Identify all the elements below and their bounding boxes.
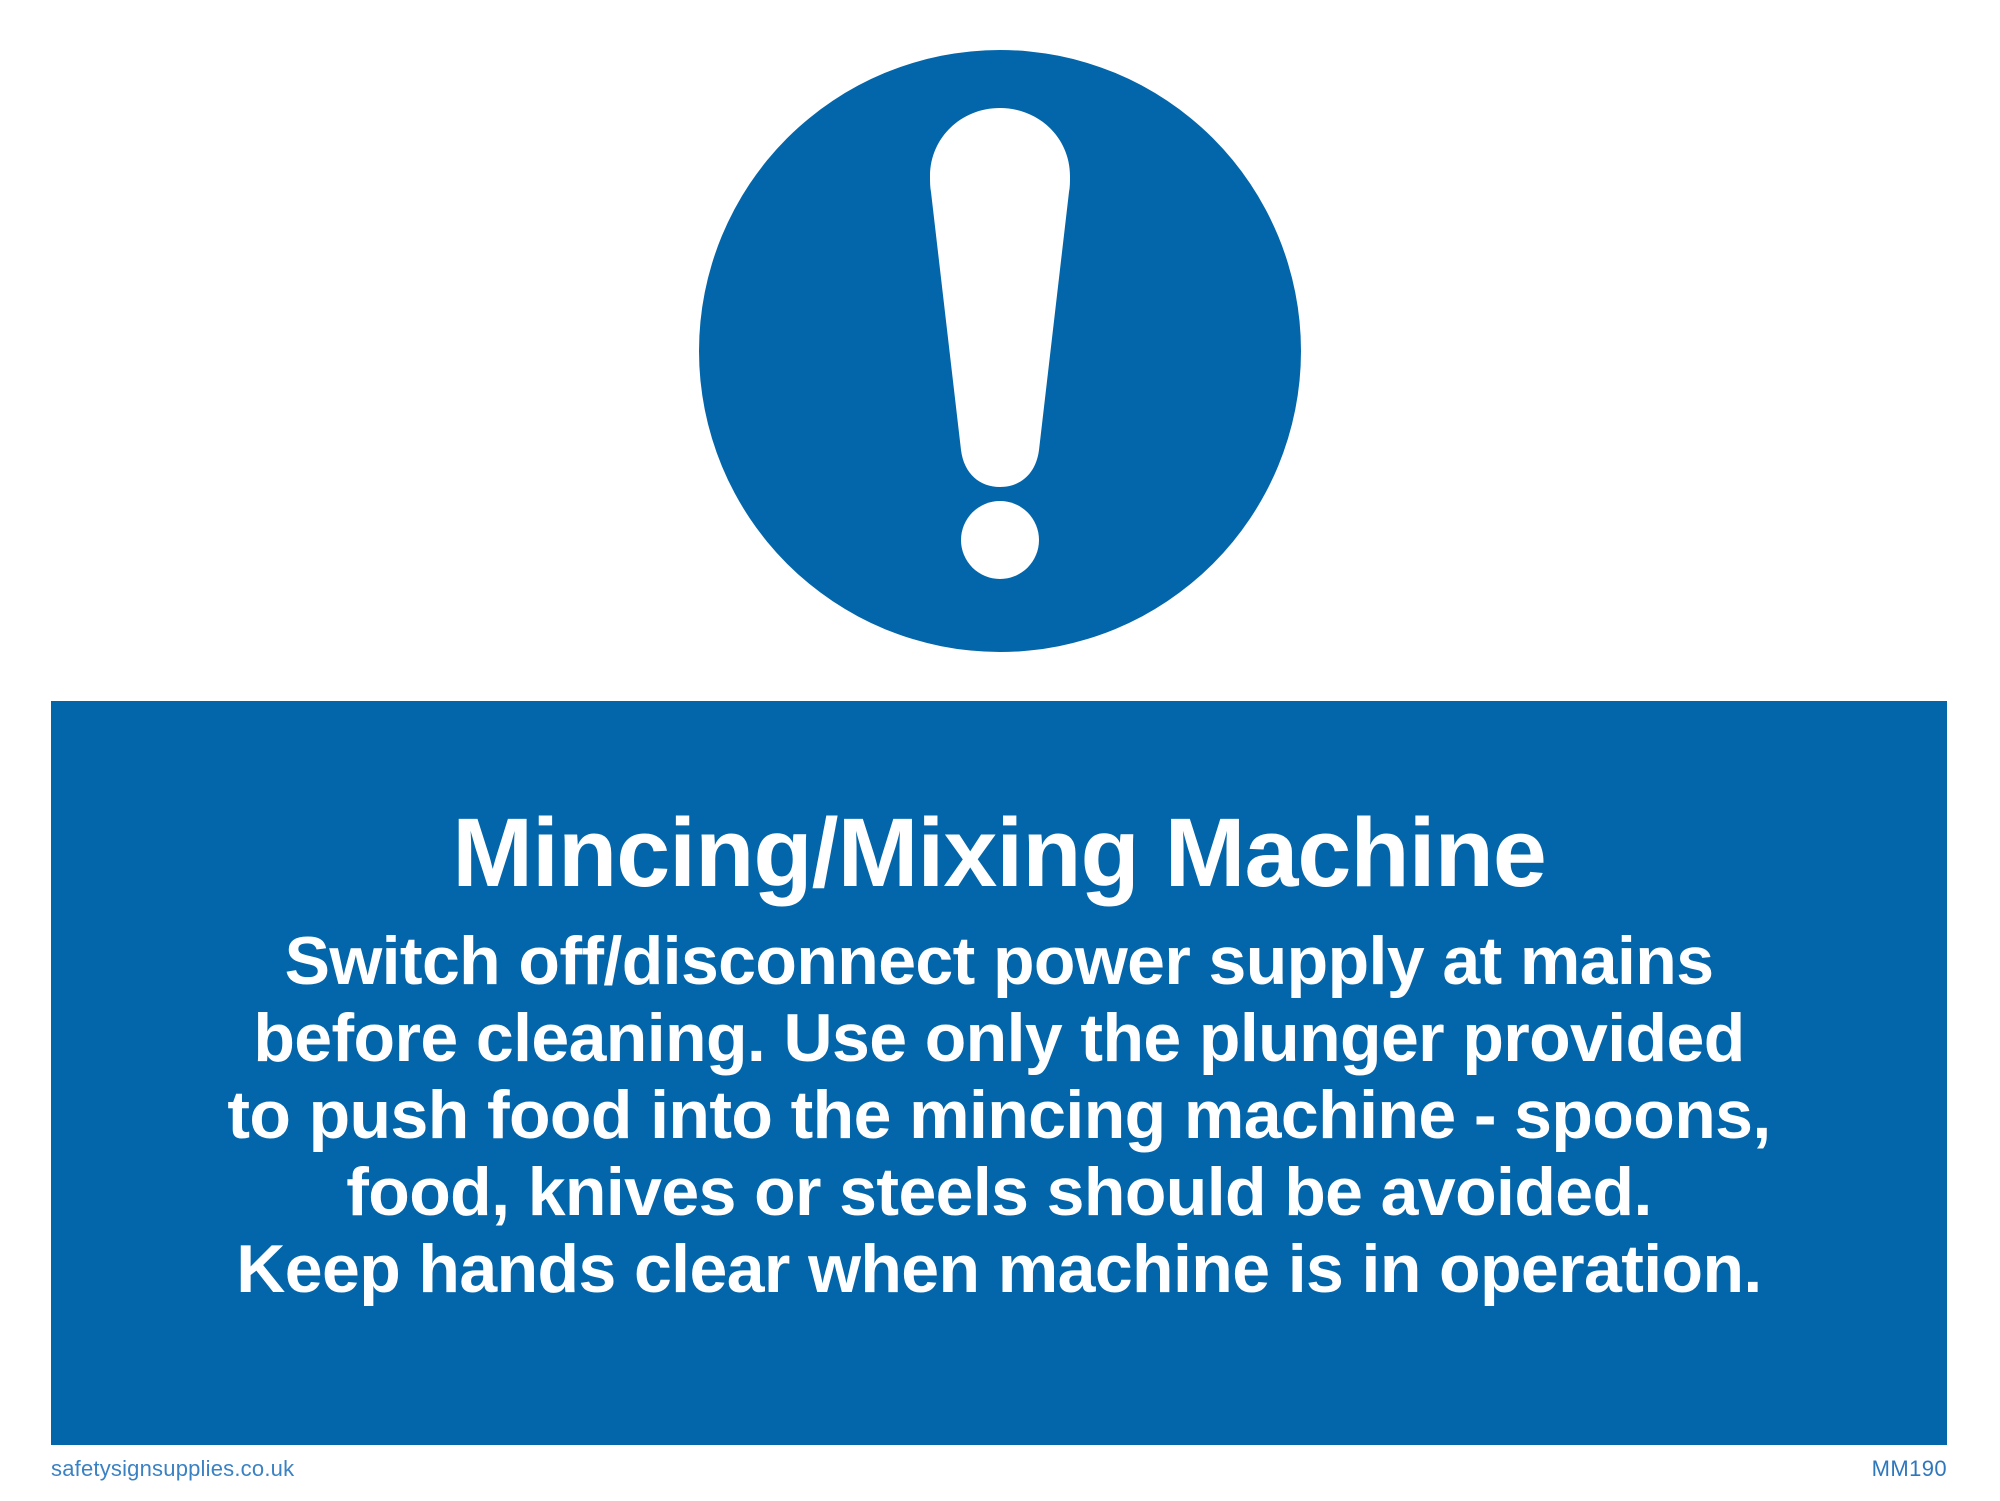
footer-website-link[interactable]: safetysignsupplies.co.uk [51,1456,294,1482]
instruction-line: food, knives or steels should be avoided… [51,1154,1947,1231]
safety-sign: Mincing/Mixing Machine Switch off/discon… [0,0,2000,1501]
sign-title: Mincing/Mixing Machine [452,701,1546,901]
general-mandatory-exclamation-icon [699,50,1301,652]
message-panel: Mincing/Mixing Machine Switch off/discon… [51,701,1947,1445]
instruction-line: Switch off/disconnect power supply at ma… [51,923,1947,1000]
instruction-line: before cleaning. Use only the plunger pr… [51,1000,1947,1077]
pictogram-area [0,0,2000,690]
instruction-line: Keep hands clear when machine is in oper… [51,1231,1947,1308]
exclamation-dot-shape [961,501,1039,579]
footer: safetysignsupplies.co.uk MM190 [51,1452,1947,1486]
sign-instruction-text: Switch off/disconnect power supply at ma… [51,901,1947,1308]
instruction-line: to push food into the mincing machine - … [51,1077,1947,1154]
footer-product-code: MM190 [1872,1456,1947,1482]
